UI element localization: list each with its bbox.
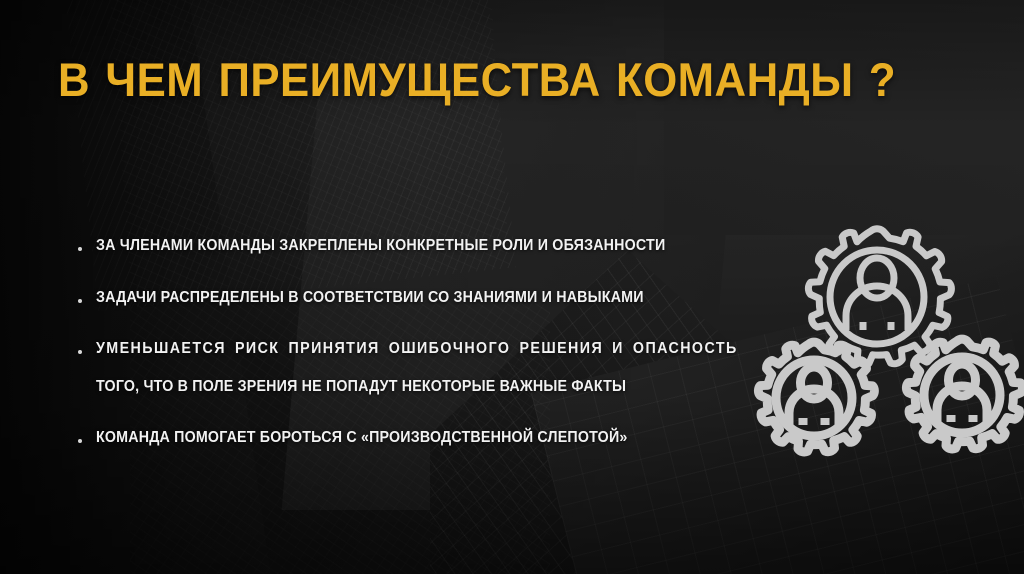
list-item: УМЕНЬШАЕТСЯ РИСК ПРИНЯТИЯ ОШИБОЧНОГО РЕШ… xyxy=(78,341,718,394)
presentation-slide: В ЧЕМ ПРЕИМУЩЕСТВА КОМАНДЫ ? ЗА ЧЛЕНАМИ … xyxy=(0,0,1024,574)
list-item-text: ЗАДАЧИ РАСПРЕДЕЛЕНЫ В СООТВЕТСТВИИ СО ЗН… xyxy=(96,290,668,306)
list-item-line: ТОГО, ЧТО В ПОЛЕ ЗРЕНИЯ НЕ ПОПАДУТ НЕКОТ… xyxy=(96,379,738,395)
slide-title: В ЧЕМ ПРЕИМУЩЕСТВА КОМАНДЫ ? xyxy=(58,56,896,103)
list-item: ЗАДАЧИ РАСПРЕДЕЛЕНЫ В СООТВЕТСТВИИ СО ЗН… xyxy=(78,290,718,306)
list-item-text: КОМАНДА ПОМОГАЕТ БОРОТЬСЯ С «ПРОИЗВОДСТВ… xyxy=(96,430,668,446)
list-item-line: КОМАНДА ПОМОГАЕТ БОРОТЬСЯ С «ПРОИЗВОДСТВ… xyxy=(96,430,668,446)
bullet-dot-icon xyxy=(78,299,82,303)
benefits-list: ЗА ЧЛЕНАМИ КОМАНДЫ ЗАКРЕПЛЕНЫ КОНКРЕТНЫЕ… xyxy=(78,238,718,446)
list-item-line: ЗАДАЧИ РАСПРЕДЕЛЕНЫ В СООТВЕТСТВИИ СО ЗН… xyxy=(96,290,668,306)
bullet-dot-icon xyxy=(78,247,82,251)
list-item-text: ЗА ЧЛЕНАМИ КОМАНДЫ ЗАКРЕПЛЕНЫ КОНКРЕТНЫЕ… xyxy=(96,238,668,254)
list-item-text: УМЕНЬШАЕТСЯ РИСК ПРИНЯТИЯ ОШИБОЧНОГО РЕШ… xyxy=(96,341,738,394)
bullet-dot-icon xyxy=(78,350,82,354)
bullet-dot-icon xyxy=(78,439,82,443)
list-item-line: УМЕНЬШАЕТСЯ РИСК ПРИНЯТИЯ ОШИБОЧНОГО РЕШ… xyxy=(96,341,738,357)
list-item: КОМАНДА ПОМОГАЕТ БОРОТЬСЯ С «ПРОИЗВОДСТВ… xyxy=(78,430,718,446)
list-item: ЗА ЧЛЕНАМИ КОМАНДЫ ЗАКРЕПЛЕНЫ КОНКРЕТНЫЕ… xyxy=(78,238,718,254)
list-item-line: ЗА ЧЛЕНАМИ КОМАНДЫ ЗАКРЕПЛЕНЫ КОНКРЕТНЫЕ… xyxy=(96,238,668,254)
